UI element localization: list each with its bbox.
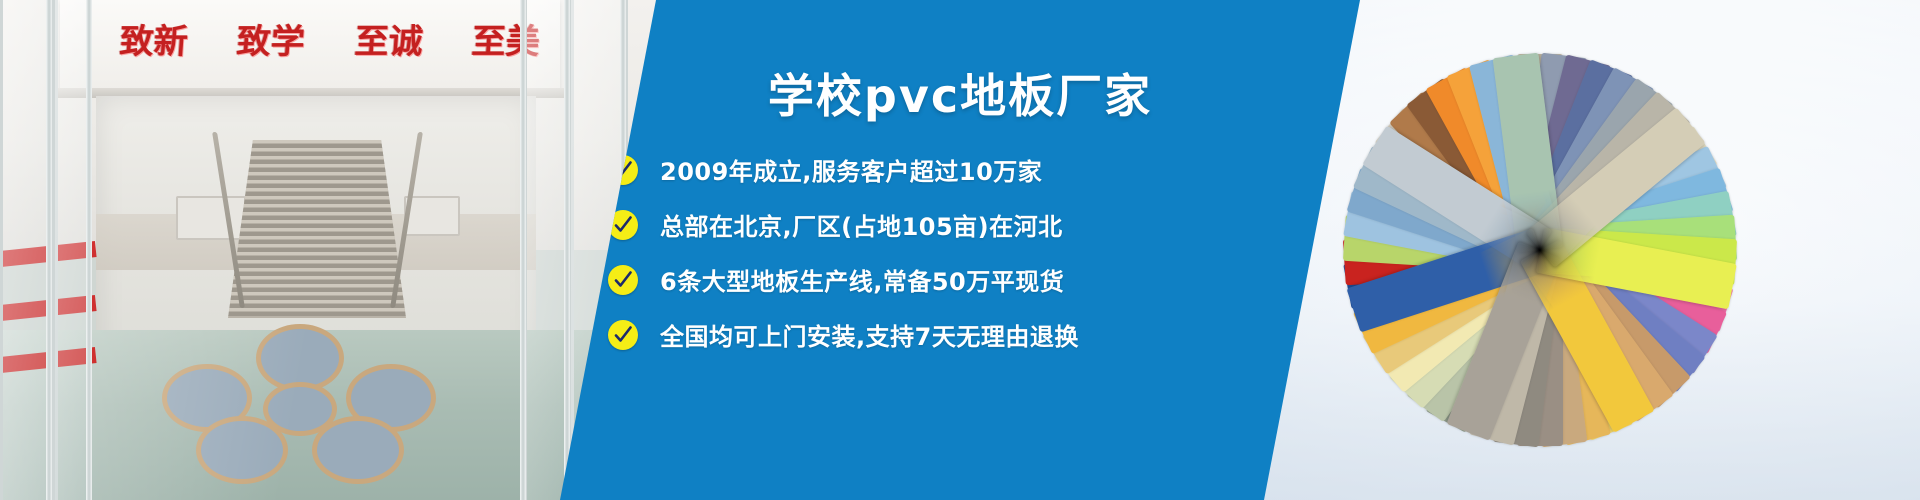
- staircase: [228, 140, 406, 318]
- door-mullion: [520, 0, 526, 500]
- feature-bullet: 全国均可上门安装,支持7天无理由退换: [560, 307, 1360, 362]
- page-title: 学校pvc地板厂家: [560, 60, 1360, 126]
- wall-slogan-char-3: 至诚: [353, 14, 424, 63]
- feature-bullet-list: 2009年成立,服务客户超过10万家总部在北京,厂区(占地105亩)在河北6条大…: [560, 142, 1360, 362]
- feature-bullet-text: 6条大型地板生产线,常备50万平现货: [660, 262, 1064, 297]
- wall-slogan: 致新 致学 至诚 至美: [120, 12, 540, 64]
- feature-bullet: 6条大型地板生产线,常备50万平现货: [560, 252, 1360, 307]
- feature-bullet: 总部在北京,厂区(占地105亩)在河北: [560, 197, 1360, 252]
- promo-banner: 致新 致学 至诚 至美: [0, 0, 1920, 500]
- wall-notice-board-1: [176, 196, 246, 240]
- school-corridor-photo: 致新 致学 至诚 至美: [0, 0, 660, 500]
- door-mullion: [46, 0, 52, 500]
- feature-bullet-text: 2009年成立,服务客户超过10万家: [660, 152, 1042, 187]
- door-mullion: [86, 0, 92, 500]
- feature-bullet: 2009年成立,服务客户超过10万家: [560, 142, 1360, 197]
- feature-bullet-text: 全国均可上门安装,支持7天无理由退换: [660, 317, 1079, 352]
- check-circle-icon: [608, 265, 638, 295]
- feature-bullet-text: 总部在北京,厂区(占地105亩)在河北: [660, 207, 1063, 242]
- wall-slogan-char-2: 致学: [236, 14, 307, 63]
- wall-slogan-char-1: 致新: [118, 14, 189, 63]
- wall-notice-board-2: [404, 196, 460, 236]
- blue-message-panel: 学校pvc地板厂家 2009年成立,服务客户超过10万家总部在北京,厂区(占地1…: [560, 0, 1360, 500]
- check-circle-icon: [608, 320, 638, 350]
- door-mullion: [564, 0, 570, 500]
